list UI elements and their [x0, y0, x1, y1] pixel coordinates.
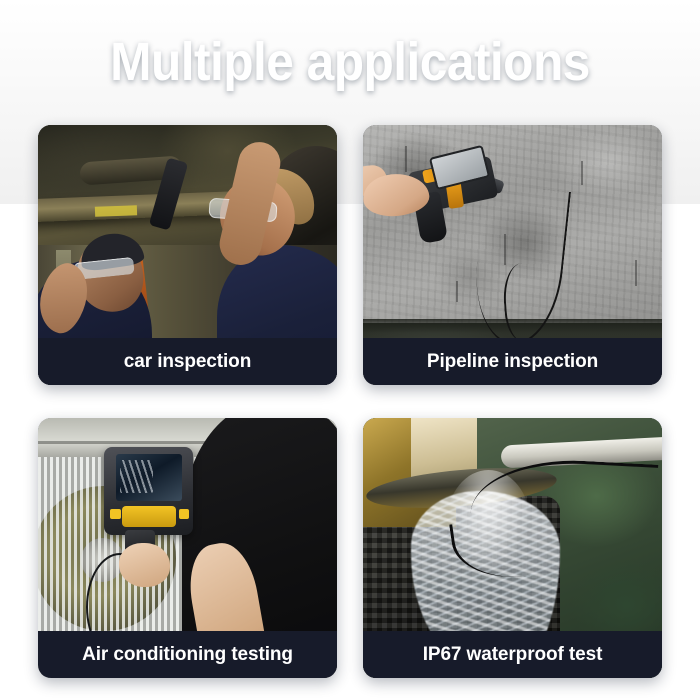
- yellow-sign: [95, 205, 137, 217]
- application-card-car-inspection[interactable]: car inspection: [38, 125, 337, 385]
- card-caption-air-conditioning-testing: Air conditioning testing: [38, 631, 337, 678]
- application-card-grid: car inspection: [38, 125, 662, 678]
- card-caption-ip67-waterproof-test: IP67 waterproof test: [363, 631, 662, 678]
- card-caption-car-inspection: car inspection: [38, 338, 337, 385]
- promo-page: Multiple applications: [0, 0, 700, 700]
- card-caption-pipeline-inspection: Pipeline inspection: [363, 338, 662, 385]
- endoscope-button: [179, 509, 190, 519]
- endoscope-display-screen: [116, 454, 182, 501]
- wall-crack: [456, 281, 458, 302]
- page-title: Multiple applications: [28, 29, 672, 95]
- technician-hand: [119, 543, 170, 587]
- wall-crack: [635, 260, 637, 286]
- endoscope-button-pad: [122, 506, 176, 527]
- wall-crack: [405, 146, 407, 172]
- application-card-ip67-waterproof-test[interactable]: IP67 waterproof test: [363, 418, 662, 678]
- endoscope-button: [110, 509, 121, 519]
- application-card-air-conditioning-testing[interactable]: Air conditioning testing: [38, 418, 337, 678]
- wall-crack: [581, 161, 583, 184]
- application-card-pipeline-inspection[interactable]: Pipeline inspection: [363, 125, 662, 385]
